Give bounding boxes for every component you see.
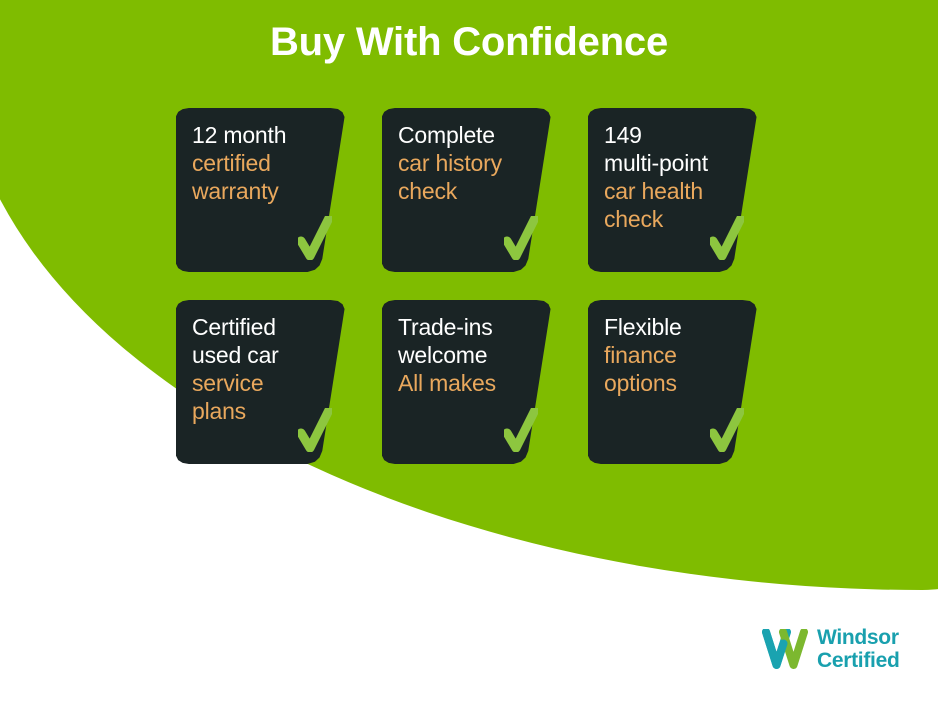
- card-line-amber: car health: [604, 177, 750, 205]
- card-text: 12 month certified warranty: [192, 121, 338, 205]
- card-line-white: 12 month: [192, 121, 338, 149]
- feature-card-twelve-month-certified-warranty[interactable]: 12 month certified warranty: [176, 108, 360, 272]
- check-icon: [504, 216, 538, 260]
- card-line-amber: check: [398, 177, 544, 205]
- logo-line-windsor: Windsor: [817, 626, 899, 649]
- promo-banner: Buy With Confidence 12 month certified w…: [0, 0, 938, 704]
- card-line-white: welcome: [398, 341, 544, 369]
- windsor-certified-logo[interactable]: Windsor Certified: [762, 626, 899, 672]
- card-line-amber: certified: [192, 149, 338, 177]
- card-text: Trade-ins welcome All makes: [398, 313, 544, 397]
- card-line-white: Trade-ins: [398, 313, 544, 341]
- feature-card-flexible-finance-options[interactable]: Flexible finance options: [588, 300, 772, 464]
- card-line-white: Certified: [192, 313, 338, 341]
- card-line-white: 149: [604, 121, 750, 149]
- card-line-white: Flexible: [604, 313, 750, 341]
- card-line-amber: service: [192, 369, 338, 397]
- check-icon: [298, 408, 332, 452]
- card-line-amber: warranty: [192, 177, 338, 205]
- check-icon: [298, 216, 332, 260]
- card-line-white: Complete: [398, 121, 544, 149]
- logo-line-certified: Certified: [817, 649, 899, 672]
- feature-card-149-multi-point-car-health-check[interactable]: 149 multi-point car health check: [588, 108, 772, 272]
- card-line-amber: options: [604, 369, 750, 397]
- card-text: Complete car history check: [398, 121, 544, 205]
- feature-card-grid: 12 month certified warranty Complete car…: [176, 108, 776, 492]
- feature-card-certified-used-car-service-plans[interactable]: Certified used car service plans: [176, 300, 360, 464]
- feature-card-trade-ins-welcome-all-makes[interactable]: Trade-ins welcome All makes: [382, 300, 566, 464]
- feature-card-complete-car-history-check[interactable]: Complete car history check: [382, 108, 566, 272]
- page-title: Buy With Confidence: [0, 18, 938, 66]
- card-line-amber: All makes: [398, 369, 544, 397]
- feature-card-row-bottom: Certified used car service plans Trade-i…: [176, 300, 776, 464]
- check-icon: [504, 408, 538, 452]
- card-line-amber: car history: [398, 149, 544, 177]
- card-line-amber: finance: [604, 341, 750, 369]
- card-text: Flexible finance options: [604, 313, 750, 397]
- card-line-white: used car: [192, 341, 338, 369]
- feature-card-row-top: 12 month certified warranty Complete car…: [176, 108, 776, 272]
- windsor-w-icon: [762, 629, 808, 669]
- check-icon: [710, 216, 744, 260]
- logo-wordmark: Windsor Certified: [817, 626, 899, 672]
- check-icon: [710, 408, 744, 452]
- card-line-white: multi-point: [604, 149, 750, 177]
